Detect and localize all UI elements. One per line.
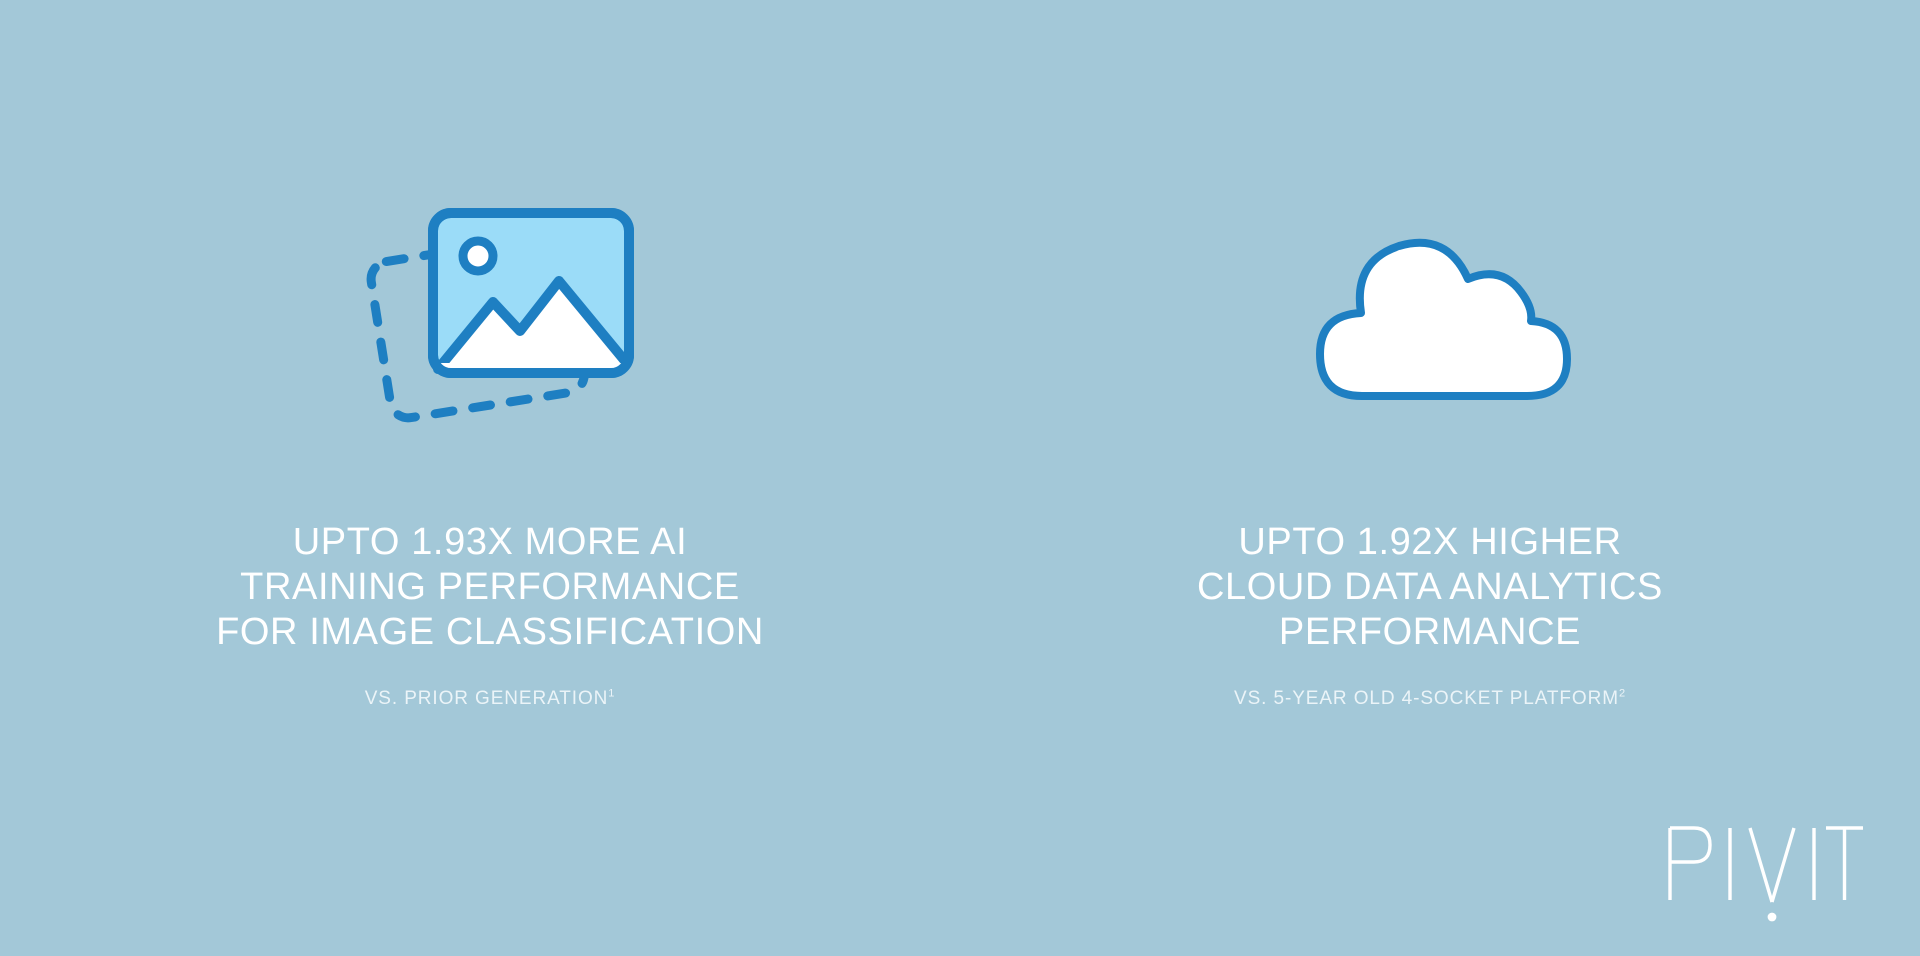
- stat-column-ai-training: UPTO 1.93X MORE AI TRAINING PERFORMANCE …: [140, 0, 840, 711]
- infographic-slide: UPTO 1.93X MORE AI TRAINING PERFORMANCE …: [0, 0, 1920, 956]
- stat-subline-text: VS. 5-YEAR OLD 4-SOCKET PLATFORM: [1234, 688, 1619, 709]
- stat-headline: UPTO 1.93X MORE AI TRAINING PERFORMANCE …: [216, 520, 764, 655]
- stat-subline: VS. 5-YEAR OLD 4-SOCKET PLATFORM2: [1234, 687, 1626, 711]
- cloud-icon-wrap: [1275, 150, 1585, 480]
- footnote-marker: 1: [608, 688, 615, 700]
- photo-frame-shape: [433, 213, 629, 373]
- image-photo-icon: [335, 195, 645, 435]
- cloud-shape: [1320, 243, 1567, 396]
- pivit-logo: [1658, 818, 1868, 928]
- image-photo-icon-wrap: [335, 150, 645, 480]
- stat-subline: VS. PRIOR GENERATION1: [365, 687, 616, 711]
- pivit-logo-mark: [1658, 818, 1868, 928]
- stat-subline-text: VS. PRIOR GENERATION: [365, 688, 609, 709]
- pivit-logo-dot: [1768, 913, 1777, 922]
- stat-headline: UPTO 1.92X HIGHER CLOUD DATA ANALYTICS P…: [1197, 520, 1663, 655]
- footnote-marker: 2: [1619, 688, 1626, 700]
- stat-columns: UPTO 1.93X MORE AI TRAINING PERFORMANCE …: [0, 0, 1920, 760]
- cloud-icon: [1275, 195, 1585, 435]
- stat-column-cloud-analytics: UPTO 1.92X HIGHER CLOUD DATA ANALYTICS P…: [1080, 0, 1780, 711]
